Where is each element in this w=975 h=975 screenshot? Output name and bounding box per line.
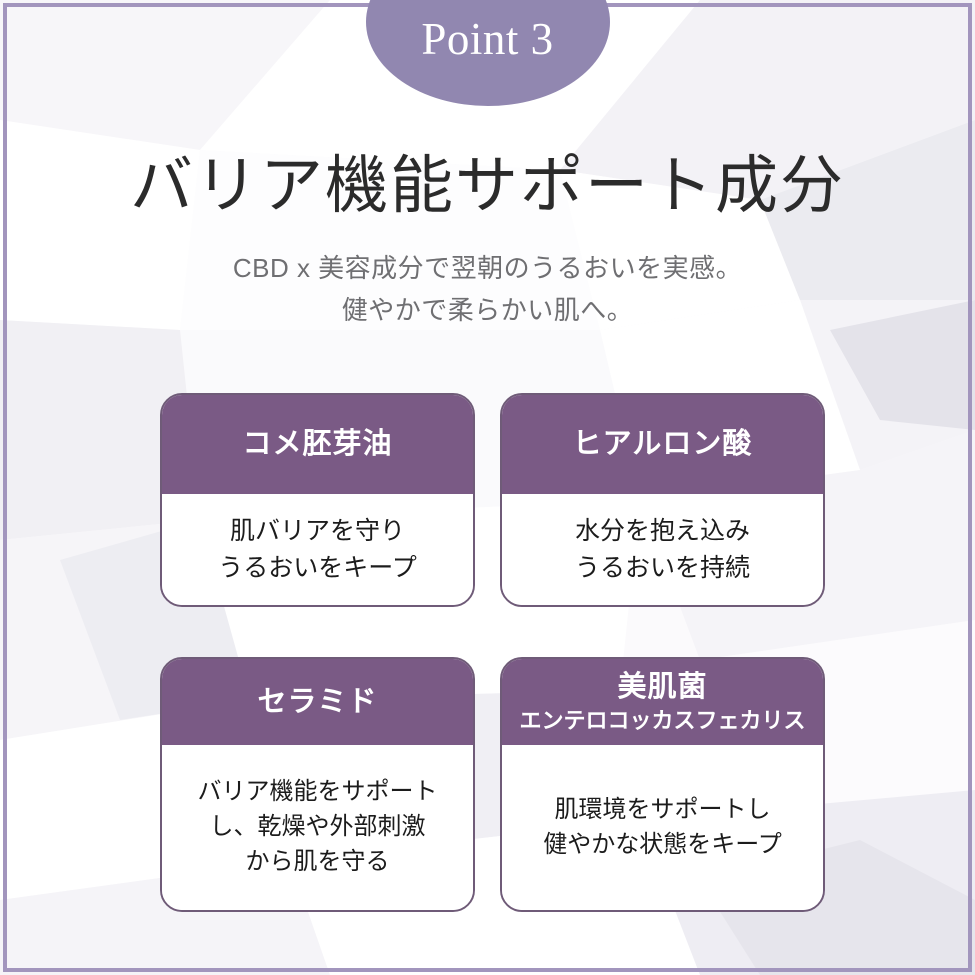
ingredient-card-2: ヒアルロン酸 水分を抱え込み うるおいを持続 xyxy=(500,393,825,607)
ingredient-card-3-line-1: バリア機能をサポート xyxy=(198,775,438,810)
ingredient-card-3-line-3: から肌を守る xyxy=(246,845,390,880)
ingredient-card-4-line-2: 健やかな状態をキープ xyxy=(543,828,782,863)
ingredient-card-2-line-1: 水分を抱え込み xyxy=(575,513,750,549)
subtitle-line-1: CBD x 美容成分で翌朝のうるおいを実感。 xyxy=(0,248,975,290)
ingredient-card-4-line-1: 肌環境をサポートし xyxy=(555,793,771,828)
subtitle-line-2: 健やかで柔らかい肌へ。 xyxy=(0,290,975,332)
ingredient-card-2-header: ヒアルロン酸 xyxy=(502,395,823,494)
ingredient-card-1-line-2: うるおいをキープ xyxy=(218,550,417,586)
heading-block: バリア機能サポート成分 CBD x 美容成分で翌朝のうるおいを実感。 健やかで柔… xyxy=(0,150,975,332)
ingredient-card-2-title: ヒアルロン酸 xyxy=(573,426,753,462)
promo-slide: Point 3 バリア機能サポート成分 CBD x 美容成分で翌朝のうるおいを実… xyxy=(0,0,975,975)
ingredient-card-4-subtitle: エンテロコッカスフェカリス xyxy=(519,707,805,735)
ingredient-card-grid: コメ胚芽油 肌バリアを守り うるおいをキープ ヒアルロン酸 水分を抱え込み うる… xyxy=(160,393,825,912)
ingredient-card-2-line-2: うるおいを持続 xyxy=(575,550,750,586)
ingredient-card-3-line-2: し、乾燥や外部刺激 xyxy=(210,810,426,845)
ingredient-card-3-body: バリア機能をサポート し、乾燥や外部刺激 から肌を守る xyxy=(162,745,473,910)
ingredient-card-1-header: コメ胚芽油 xyxy=(162,395,473,494)
ingredient-card-3-title: セラミド xyxy=(257,684,377,720)
ingredient-card-1-line-1: 肌バリアを守り xyxy=(230,513,405,549)
ingredient-card-1-title: コメ胚芽油 xyxy=(242,426,392,462)
ingredient-card-4-title: 美肌菌 xyxy=(617,669,707,705)
ingredient-card-4-body: 肌環境をサポートし 健やかな状態をキープ xyxy=(502,745,823,910)
ingredient-card-1-body: 肌バリアを守り うるおいをキープ xyxy=(162,494,473,605)
ingredient-card-3: セラミド バリア機能をサポート し、乾燥や外部刺激 から肌を守る xyxy=(160,657,475,912)
page-title: バリア機能サポート成分 xyxy=(0,150,975,222)
ingredient-card-3-header: セラミド xyxy=(162,659,473,745)
ingredient-card-4: 美肌菌 エンテロコッカスフェカリス 肌環境をサポートし 健やかな状態をキープ xyxy=(500,657,825,912)
ingredient-card-2-body: 水分を抱え込み うるおいを持続 xyxy=(502,494,823,605)
point-badge-label: Point 3 xyxy=(421,17,553,62)
ingredient-card-1: コメ胚芽油 肌バリアを守り うるおいをキープ xyxy=(160,393,475,607)
ingredient-card-4-header: 美肌菌 エンテロコッカスフェカリス xyxy=(502,659,823,745)
page-subtitle: CBD x 美容成分で翌朝のうるおいを実感。 健やかで柔らかい肌へ。 xyxy=(0,248,975,331)
